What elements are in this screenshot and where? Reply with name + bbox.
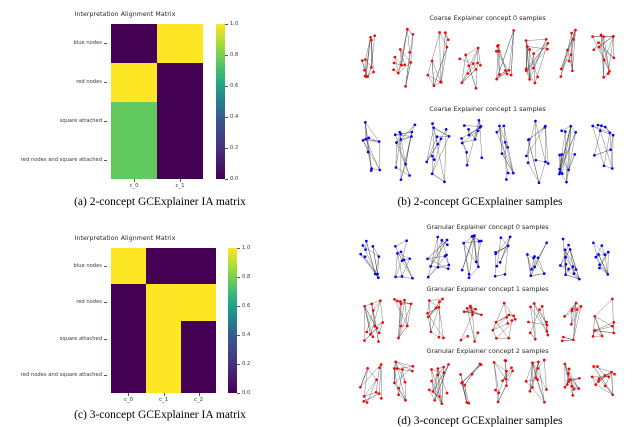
- heatmap-y-tick: [104, 266, 107, 267]
- graph-node: [544, 160, 547, 163]
- graph-node: [476, 62, 479, 65]
- graph-node: [440, 81, 443, 84]
- graph-edge: [429, 301, 439, 308]
- graph-node: [469, 305, 472, 308]
- graph-node: [505, 316, 508, 319]
- graph-node: [527, 321, 530, 324]
- graph-node: [597, 380, 600, 383]
- graph-node: [399, 48, 402, 51]
- graph-node: [574, 29, 577, 32]
- graph-node: [412, 33, 415, 36]
- graph-node: [395, 166, 398, 169]
- colorbar-tick-label: 1.0: [230, 21, 238, 27]
- heatmap-y-tick: [104, 302, 107, 303]
- graph-edge: [561, 50, 567, 69]
- graph-sample: [495, 124, 514, 180]
- graph-node: [501, 152, 504, 155]
- graph-node: [426, 257, 429, 260]
- graph-edge: [536, 378, 544, 402]
- graph-node: [560, 129, 563, 132]
- graph-node: [569, 378, 572, 381]
- graph-node: [364, 58, 367, 61]
- graph-node: [471, 311, 474, 314]
- graph-node: [528, 48, 531, 51]
- graph-sample: [359, 240, 380, 279]
- graph-node: [366, 75, 369, 78]
- graph-node: [510, 319, 513, 322]
- graph-node: [494, 389, 497, 392]
- graph-node: [462, 242, 465, 245]
- graph-edge: [397, 253, 402, 276]
- graph-edge: [396, 362, 405, 382]
- graph-node: [592, 48, 595, 51]
- graph-edge: [526, 43, 548, 68]
- graph-node: [446, 46, 449, 49]
- graph-edge: [494, 362, 498, 402]
- graph-node: [480, 156, 483, 159]
- graph-node: [529, 390, 532, 393]
- graph-node: [600, 34, 603, 37]
- heatmap-a-colorbar-ticks: 0.00.20.40.60.81.0: [216, 24, 260, 179]
- graph-node: [558, 173, 561, 176]
- graph-panel-granular-concept-1: Granular Explainer concept 1 samples: [355, 285, 620, 347]
- graph-node: [510, 74, 513, 77]
- graph-node: [398, 131, 401, 134]
- graph-node: [598, 263, 601, 266]
- graph-node: [612, 332, 615, 335]
- graph-edge: [368, 68, 372, 77]
- graph-node: [506, 322, 509, 325]
- graph-node: [399, 300, 402, 303]
- graph-node: [441, 402, 444, 405]
- graph-node: [459, 373, 462, 376]
- graph-node: [538, 181, 541, 184]
- graph-node: [394, 245, 397, 248]
- graph-edge: [464, 126, 481, 127]
- graph-edge: [428, 32, 440, 75]
- graph-edge: [496, 319, 515, 338]
- graph-node: [444, 31, 447, 34]
- heatmap-x-tick-label: c_2: [194, 397, 203, 403]
- graph-node: [598, 377, 601, 380]
- graph-node: [396, 252, 399, 255]
- graph-edge: [528, 140, 539, 183]
- graph-node: [369, 333, 372, 336]
- graph-edge: [562, 340, 573, 341]
- graph-node: [507, 245, 510, 248]
- heatmap-y-tick-label: blue nodes: [73, 40, 102, 46]
- colorbar-tick-label: 0.6: [242, 303, 250, 309]
- graph-node: [495, 337, 498, 340]
- graph-node: [378, 140, 381, 143]
- graph-node: [404, 381, 407, 384]
- graph-edge: [500, 237, 510, 263]
- graph-edge: [494, 362, 506, 379]
- graph-sample: [559, 238, 581, 281]
- graph-node: [473, 340, 476, 343]
- graph-edge: [496, 322, 509, 338]
- graph-node: [404, 399, 407, 402]
- graph-node: [527, 138, 530, 141]
- graph-node: [508, 313, 511, 316]
- graph-node: [366, 367, 369, 370]
- graph-node: [414, 123, 417, 126]
- graph-node: [543, 401, 546, 404]
- graph-node: [612, 35, 615, 38]
- panel-b: Coarse Explainer concept 0 samples Coars…: [320, 0, 640, 213]
- graph-node: [603, 58, 606, 61]
- graph-node: [477, 129, 480, 132]
- graph-node: [380, 397, 383, 400]
- graph-edge: [534, 303, 548, 335]
- graph-node: [613, 373, 616, 376]
- heatmap-c-y-axis: blue nodesred nodessquare attachedred no…: [0, 248, 107, 393]
- graph-node: [463, 124, 466, 127]
- graph-node: [408, 257, 411, 260]
- graph-node: [507, 337, 510, 340]
- graph-node: [426, 74, 429, 77]
- graph-node: [367, 137, 370, 140]
- heatmap-c: Interpretation Alignment Matrix blue nod…: [0, 213, 260, 408]
- graph-node: [564, 386, 567, 389]
- graph-node: [505, 384, 508, 387]
- graph-node: [367, 151, 370, 154]
- graph-edge: [467, 120, 479, 165]
- graph-node: [378, 366, 381, 369]
- graph-sample: [591, 365, 616, 396]
- graph-node: [537, 256, 540, 259]
- heatmap-cell: [146, 357, 181, 393]
- graph-node: [495, 321, 498, 324]
- graph-panel-coarse-concept-0-title: Coarse Explainer concept 0 samples: [355, 14, 620, 22]
- graph-node: [404, 85, 407, 88]
- graph-node: [381, 321, 384, 324]
- graph-node: [525, 380, 528, 383]
- graph-node: [359, 386, 362, 389]
- graph-node: [512, 29, 515, 32]
- graph-node: [564, 363, 567, 366]
- graph-node: [460, 382, 463, 385]
- graph-node: [558, 168, 561, 171]
- panel-a: Interpretation Alignment Matrix blue nod…: [0, 0, 320, 213]
- graph-node: [472, 62, 475, 65]
- graph-node: [507, 172, 510, 175]
- graph-edge: [360, 365, 381, 388]
- heatmap-cell: [146, 321, 181, 357]
- heatmap-y-tick-label: square attached: [60, 336, 102, 342]
- graph-node: [475, 261, 478, 264]
- graph-sample: [428, 363, 450, 405]
- graph-sample: [460, 119, 483, 167]
- graph-node: [396, 300, 399, 303]
- graph-node: [364, 138, 367, 141]
- graph-node: [546, 324, 549, 327]
- heatmap-cell: [111, 24, 157, 63]
- graph-node: [448, 135, 451, 138]
- graph-node: [533, 302, 536, 305]
- graph-node: [433, 84, 436, 87]
- graph-node: [612, 134, 615, 137]
- heatmap-y-tick-label: red nodes and square attached: [21, 157, 102, 163]
- graph-node: [567, 372, 570, 375]
- graph-node: [504, 69, 507, 72]
- graph-edge: [594, 366, 612, 372]
- graph-node: [534, 82, 537, 85]
- graph-node: [566, 383, 569, 386]
- graph-node: [396, 367, 399, 370]
- graph-node: [509, 235, 512, 238]
- graph-panel-granular-concept-0: Granular Explainer concept 0 samples: [355, 223, 620, 285]
- graph-node: [378, 331, 381, 334]
- graph-node: [543, 359, 546, 362]
- graph-node: [445, 128, 448, 131]
- graph-node: [526, 45, 529, 48]
- graph-node: [378, 392, 381, 395]
- graph-edge: [396, 362, 413, 367]
- graph-edge: [545, 126, 548, 163]
- graph-node: [494, 251, 497, 254]
- graph-edge: [495, 252, 496, 276]
- heatmap-cell: [181, 321, 216, 357]
- graph-edge: [612, 372, 613, 395]
- graph-node: [364, 121, 367, 124]
- graph-sample: [494, 235, 512, 277]
- graph-edge: [440, 32, 441, 81]
- heatmap-cell: [111, 284, 146, 320]
- graph-sample: [525, 359, 548, 404]
- graph-node: [475, 87, 478, 90]
- heatmap-a-x-axis: c_0c_1: [111, 179, 203, 195]
- graph-node: [428, 299, 431, 302]
- heatmap-y-tick-label: blue nodes: [73, 263, 102, 269]
- graph-node: [504, 273, 507, 276]
- graph-node: [564, 256, 567, 259]
- graph-node: [427, 316, 430, 319]
- graph-node: [431, 59, 434, 62]
- graph-node: [601, 335, 604, 338]
- graph-node: [377, 340, 380, 343]
- graph-node: [404, 163, 407, 166]
- graph-sample: [394, 123, 416, 181]
- graph-edge: [561, 30, 576, 76]
- graph-sample: [527, 302, 549, 341]
- graph-node: [372, 309, 375, 312]
- graph-sample: [359, 363, 383, 404]
- heatmap-cell: [111, 357, 146, 393]
- graph-node: [442, 366, 445, 369]
- graph-node: [493, 361, 496, 364]
- graph-node: [611, 393, 614, 396]
- graph-node: [609, 148, 612, 151]
- graph-node: [427, 276, 430, 279]
- graph-node: [466, 307, 469, 310]
- graph-node: [461, 142, 464, 145]
- graph-node: [403, 299, 406, 302]
- graph-node: [378, 255, 381, 258]
- graph-node: [545, 388, 548, 391]
- graph-edge: [432, 136, 449, 173]
- graph-node: [535, 159, 538, 162]
- colorbar-tick: [225, 24, 228, 25]
- graph-node: [443, 180, 446, 183]
- heatmap-cell: [157, 140, 203, 179]
- graph-node: [474, 138, 477, 141]
- graph-node: [564, 130, 567, 133]
- graph-edge: [394, 368, 398, 394]
- graph-edge: [567, 132, 576, 182]
- graph-edge: [499, 126, 508, 173]
- graph-edge: [526, 39, 546, 40]
- graph-node: [406, 325, 409, 328]
- heatmap-cell: [111, 140, 157, 179]
- graph-edge: [475, 333, 478, 342]
- graph-sample: [426, 236, 450, 279]
- heatmap-a: Interpretation Alignment Matrix blue nod…: [0, 0, 260, 200]
- graph-node: [377, 276, 380, 279]
- graph-node: [597, 41, 600, 44]
- graph-node: [559, 264, 562, 267]
- graph-node: [478, 240, 481, 243]
- graph-node: [410, 131, 413, 134]
- graph-node: [499, 261, 502, 264]
- graph-node: [468, 276, 471, 279]
- graph-node: [525, 39, 528, 42]
- graph-node: [567, 380, 570, 383]
- graph-node: [400, 250, 403, 253]
- graph-node: [609, 131, 612, 134]
- graph-node: [602, 35, 605, 38]
- graph-node: [359, 253, 362, 256]
- heatmap-cell: [111, 321, 146, 357]
- graph-node: [433, 158, 436, 161]
- colorbar-tick: [225, 86, 228, 87]
- graph-node: [572, 338, 575, 341]
- heatmap-a-grid: [111, 24, 203, 179]
- graph-node: [463, 384, 466, 387]
- graph-panel-granular-concept-1-title: Granular Explainer concept 1 samples: [355, 285, 620, 293]
- graph-node: [566, 49, 569, 52]
- graph-sample: [559, 29, 576, 78]
- graph-node: [363, 395, 366, 398]
- graph-node: [534, 338, 537, 341]
- graph-node: [544, 126, 547, 129]
- graph-node: [558, 154, 561, 157]
- graph-node: [477, 266, 480, 269]
- graph-node: [532, 52, 535, 55]
- graph-node: [477, 47, 480, 50]
- graph-node: [511, 370, 514, 373]
- graph-node: [573, 388, 576, 391]
- graph-node: [578, 278, 581, 281]
- graph-edge: [604, 133, 610, 166]
- graph-node: [458, 57, 461, 60]
- graph-node: [512, 172, 515, 175]
- graph-edge: [505, 246, 508, 274]
- graph-node: [592, 365, 595, 368]
- graph-node: [361, 59, 364, 62]
- graph-sample: [495, 29, 515, 80]
- graph-edge: [365, 306, 377, 328]
- graph-node: [393, 367, 396, 370]
- graph-node: [510, 366, 513, 369]
- graph-node: [575, 302, 578, 305]
- graph-edge: [407, 304, 411, 326]
- graph-node: [432, 390, 435, 393]
- graph-sample: [525, 120, 549, 184]
- graph-node: [534, 120, 537, 123]
- heatmap-x-tick-label: c_0: [129, 183, 138, 189]
- graph-edge: [367, 380, 376, 403]
- graph-node: [370, 39, 373, 42]
- graph-node: [426, 312, 429, 315]
- graph-node: [468, 273, 471, 276]
- graph-node: [528, 78, 531, 81]
- graph-node: [600, 244, 603, 247]
- graph-samples-svg: [355, 293, 620, 346]
- graph-node: [571, 394, 574, 397]
- graph-node: [593, 315, 596, 318]
- graph-node: [441, 298, 444, 301]
- graph-edge: [497, 132, 514, 173]
- heatmap-cell: [157, 63, 203, 102]
- graph-edge: [429, 299, 442, 301]
- graph-sample: [426, 31, 449, 87]
- graph-node: [466, 335, 469, 338]
- graph-edge: [495, 274, 505, 276]
- graph-node: [375, 378, 378, 381]
- graph-node: [607, 376, 610, 379]
- graph-node: [467, 64, 470, 67]
- graph-node: [403, 259, 406, 262]
- graph-node: [545, 321, 548, 324]
- graph-node: [498, 125, 501, 128]
- graph-node: [460, 339, 463, 342]
- graph-node: [571, 69, 574, 72]
- graph-node: [501, 379, 504, 382]
- graph-edge: [560, 266, 579, 280]
- heatmap-y-tick: [104, 339, 107, 340]
- graph-node: [529, 274, 532, 277]
- graph-node: [503, 124, 506, 127]
- graph-edge: [432, 174, 444, 182]
- graph-node: [464, 54, 467, 57]
- graph-edge: [380, 301, 382, 323]
- graph-sample: [425, 122, 450, 183]
- graph-node: [428, 389, 431, 392]
- graph-node: [438, 395, 441, 398]
- graph-node: [573, 272, 576, 275]
- graph-node: [527, 161, 530, 164]
- graph-node: [536, 76, 539, 79]
- graph-node: [598, 267, 601, 270]
- graph-node: [602, 76, 605, 79]
- graph-sample: [459, 363, 482, 405]
- heatmap-c-x-axis: c_0c_1c_2: [111, 393, 216, 409]
- graph-node: [400, 178, 403, 181]
- graph-node: [366, 401, 369, 404]
- graph-edge: [441, 47, 447, 82]
- graph-node: [608, 70, 611, 73]
- graph-node: [512, 314, 515, 317]
- graph-sample: [561, 302, 583, 343]
- heatmap-cell: [111, 248, 146, 284]
- graph-node: [431, 122, 434, 125]
- graph-node: [467, 128, 470, 131]
- heatmap-x-tick: [134, 179, 135, 182]
- caption-c: (c) 3-concept GCExplainer IA matrix: [0, 409, 320, 421]
- graph-node: [375, 391, 378, 394]
- graph-node: [504, 141, 507, 144]
